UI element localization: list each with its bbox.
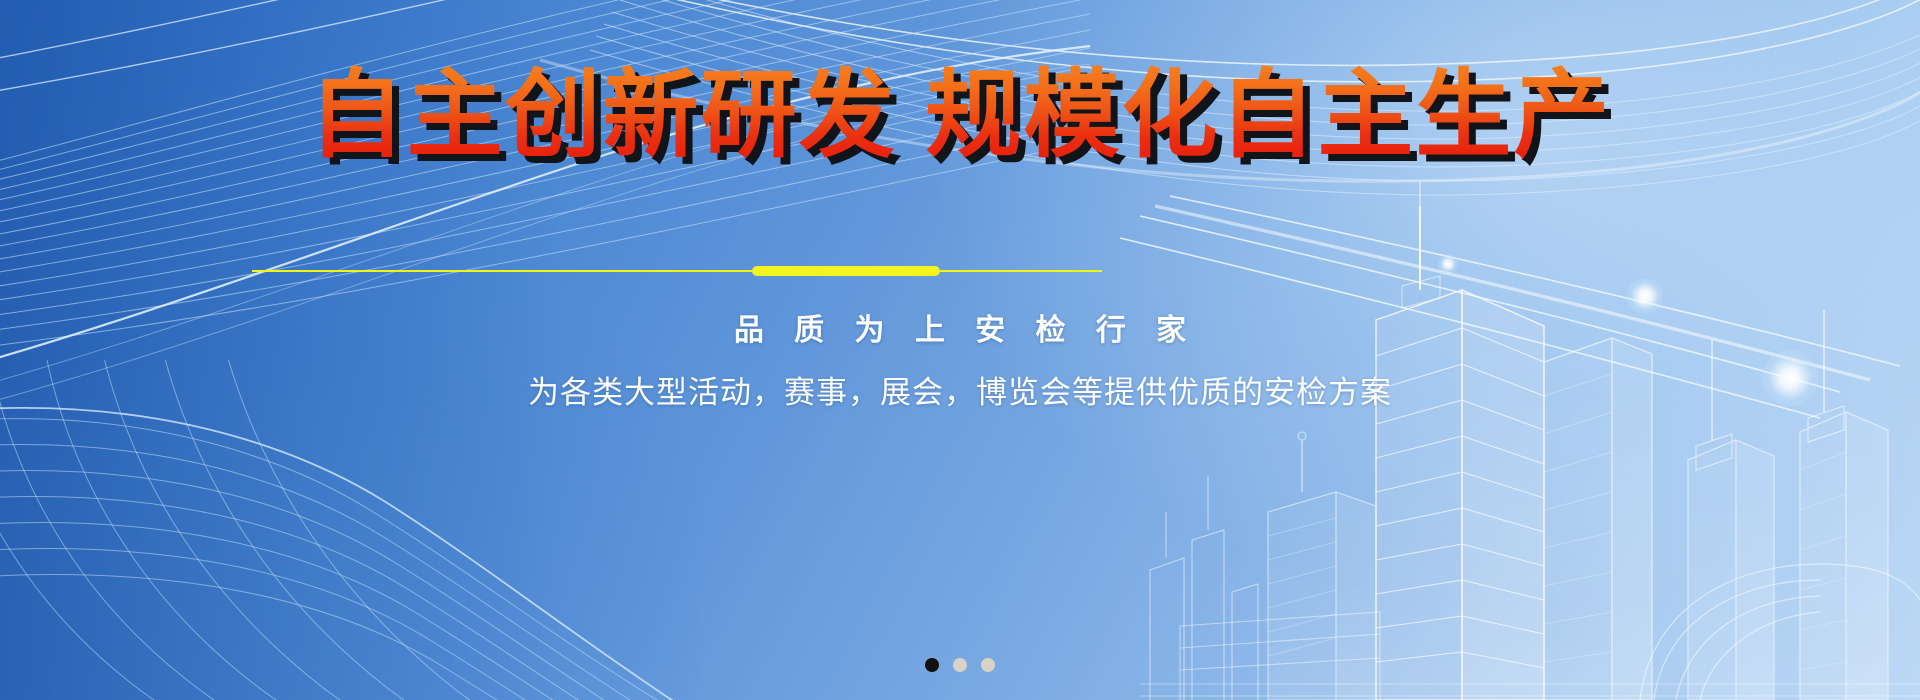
banner-main-title-text: 自主创新研发 规模化自主生产 [309,62,1612,169]
orbit-node-glow-small-icon [1627,278,1663,314]
divider-line-left [252,270,752,272]
carousel-dot-1[interactable] [925,658,939,672]
carousel-dot-3[interactable] [981,658,995,672]
carousel-indicators[interactable] [0,658,1920,672]
title-divider [0,264,1920,278]
divider-line-right [940,270,1102,272]
banner-title-area: 自主创新研发 规模化自主生产 自主创新研发 规模化自主生产 [0,64,1920,168]
hero-banner: 自主创新研发 规模化自主生产 自主创新研发 规模化自主生产 品 质 为 上 安 … [0,0,1920,700]
banner-subtitle-area: 品 质 为 上 安 检 行 家 为各类大型活动，赛事，展会，博览会等提供优质的安… [0,310,1920,417]
divider-accent-bar [752,266,940,276]
banner-slogan: 品 质 为 上 安 检 行 家 [0,310,1920,352]
banner-main-title: 自主创新研发 规模化自主生产 自主创新研发 规模化自主生产 [309,64,1612,168]
carousel-dot-2[interactable] [953,658,967,672]
banner-description: 为各类大型活动，赛事，展会，博览会等提供优质的安检方案 [0,370,1920,417]
cityscape-skyline-icon [1140,140,1920,700]
